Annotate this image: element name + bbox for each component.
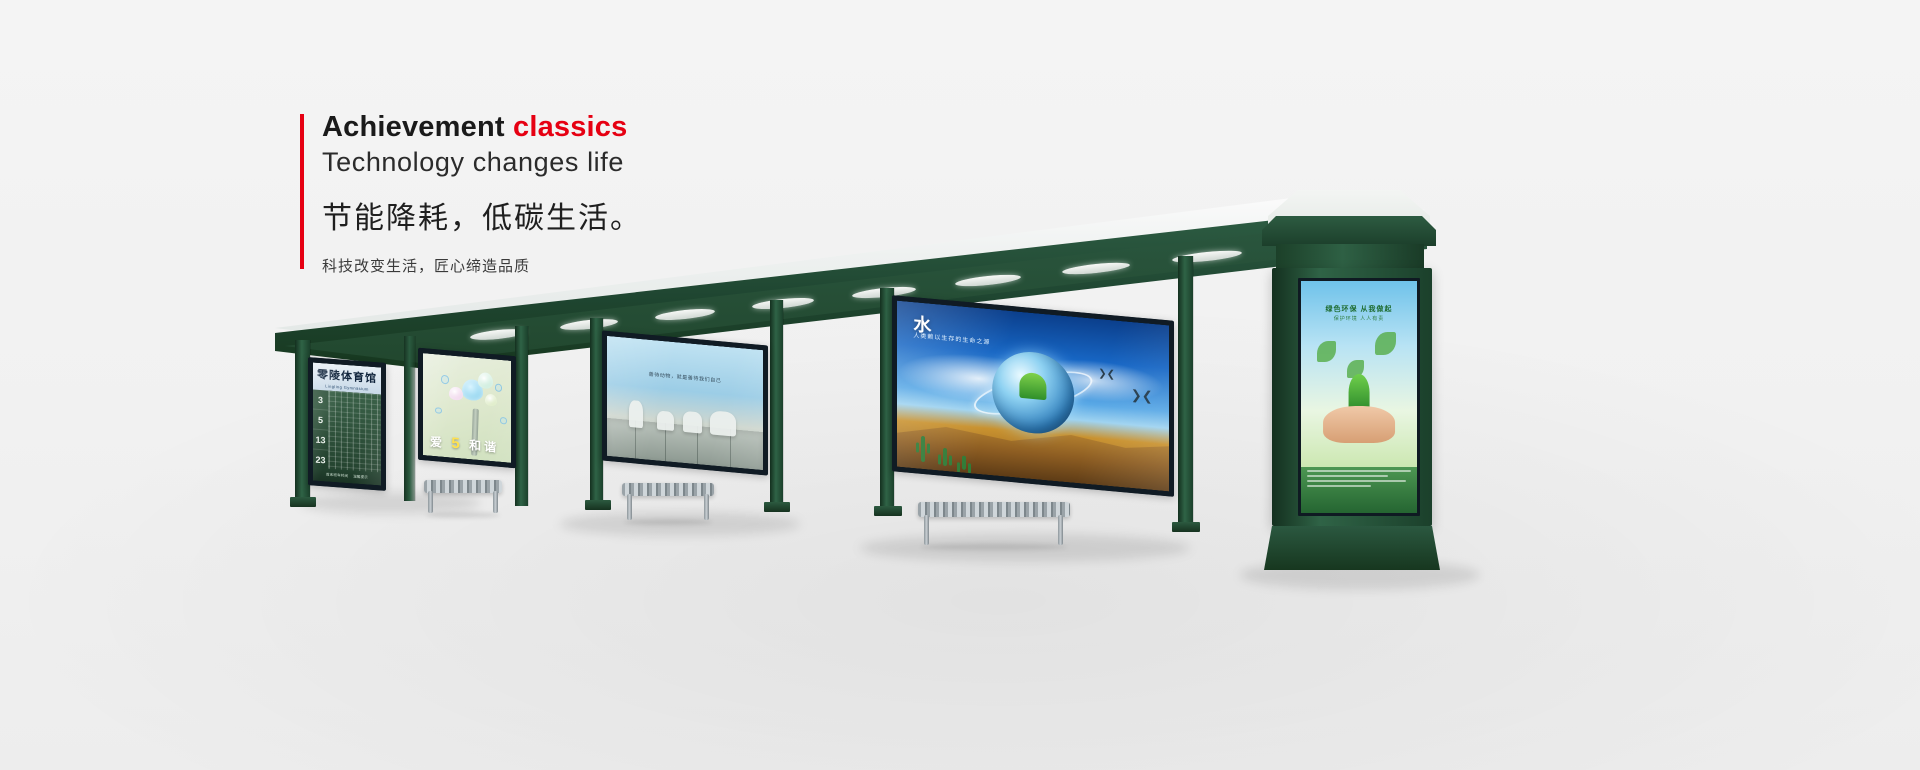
footer-rule xyxy=(1307,480,1406,482)
headline-line-1: Achievement classics xyxy=(322,110,940,144)
support-column xyxy=(770,300,783,505)
cactus-icon xyxy=(943,448,947,466)
poster-green-eco: 绿色环保 从我做起 保护环境 人人有责 xyxy=(1301,281,1417,513)
bench-leg xyxy=(704,494,709,520)
pylon-neck xyxy=(1276,244,1424,268)
bench-shadow xyxy=(921,544,1067,550)
footer-rule xyxy=(1307,485,1371,487)
support-column xyxy=(404,336,415,501)
bench xyxy=(622,483,714,521)
schedule-glass: 零陵体育馆 Lingling Gymnasium 3 5 13 23 首末班车时… xyxy=(313,363,381,486)
bench-shadow xyxy=(624,519,712,525)
bird-icon: ❯❮ xyxy=(1131,388,1153,403)
bench-seat xyxy=(622,483,714,496)
poster-wildlife-caption: 善待动物，就是善待我们自己 xyxy=(649,371,722,385)
headline-line-2: Technology changes life xyxy=(322,146,940,178)
giraffe-silhouette xyxy=(629,400,643,428)
poster-green-title: 绿色环保 从我做起 xyxy=(1326,304,1393,314)
footer-rule xyxy=(1307,470,1411,472)
poster-green-subtitle: 保护环境 人人有责 xyxy=(1334,315,1384,322)
accent-rule xyxy=(300,114,304,269)
schedule-body: 3 5 13 23 xyxy=(313,390,381,475)
schedule-footer-note: 温馨提示 xyxy=(353,474,368,480)
leaf-icon xyxy=(1375,332,1396,355)
ad-light-box-tree[interactable]: 爱 5 和谐 xyxy=(418,348,516,469)
ad-glass: 善待动物，就是善待我们自己 xyxy=(607,336,763,470)
ad-glass: 爱 5 和谐 xyxy=(423,353,511,463)
bubble xyxy=(495,384,502,392)
route-stops-grid xyxy=(328,391,381,475)
bubble xyxy=(500,417,506,424)
schedule-content: 零陵体育馆 Lingling Gymnasium 3 5 13 23 首末班车时… xyxy=(313,363,381,486)
poster-heart-tree: 爱 5 和谐 xyxy=(423,353,511,463)
camel-silhouette xyxy=(683,411,702,433)
column-footing xyxy=(1172,522,1200,532)
bench-leg xyxy=(493,491,498,513)
poster-wildlife: 善待动物，就是善待我们自己 xyxy=(607,336,763,470)
poster-water: 水 人类赖以生存的生命之源 ❯❮ ❯❮ xyxy=(897,301,1169,492)
poster-tree-number: 5 xyxy=(451,435,462,453)
pylon-cap-band xyxy=(1262,216,1436,246)
cactus-icon xyxy=(921,436,925,462)
bench-leg xyxy=(1058,515,1063,545)
totem-pylon[interactable]: LL 绿色环保 从我做起 保护环境 人人有责 xyxy=(1272,268,1432,526)
footer-rule xyxy=(1307,475,1388,477)
totem-screen[interactable]: 绿色环保 从我做起 保护环境 人人有责 xyxy=(1298,278,1420,516)
bench-seat xyxy=(424,480,502,493)
schedule-footer-note: 首末班车时间 xyxy=(326,472,348,479)
route-number: 3 xyxy=(313,390,328,411)
route-number: 5 xyxy=(313,410,328,431)
bench xyxy=(424,480,502,514)
bird-icon: ❯❮ xyxy=(1098,369,1115,381)
elephant-silhouette xyxy=(710,410,737,436)
bench-leg xyxy=(924,515,929,545)
ad-light-box-water[interactable]: 水 人类赖以生存的生命之源 ❯❮ ❯❮ xyxy=(892,295,1174,497)
heart-shape xyxy=(485,393,497,406)
column-footing xyxy=(585,500,611,510)
poster-tree-caption: 爱 5 和谐 xyxy=(430,433,499,456)
cactus-icon xyxy=(962,455,966,469)
bubble xyxy=(435,407,441,414)
column-footing xyxy=(874,506,902,516)
headline-main: Achievement xyxy=(322,111,513,143)
headline-line-3: 节能降耗，低碳生活。 xyxy=(322,193,940,237)
route-number: 13 xyxy=(313,430,328,451)
column-footing xyxy=(764,502,790,512)
leaf-icon xyxy=(1317,341,1336,362)
bench-leg xyxy=(428,491,433,513)
route-number-column: 3 5 13 23 xyxy=(313,390,328,471)
hands-illustration xyxy=(1323,406,1395,443)
bench-leg xyxy=(627,494,632,520)
poster-tree-title: 爱 xyxy=(430,435,445,450)
poster-tree-subtitle: 和谐 xyxy=(469,438,499,455)
bench-shadow xyxy=(426,512,500,518)
support-column xyxy=(1178,256,1193,524)
headline-accent: classics xyxy=(513,111,628,143)
marketing-copy-block: Achievement classics Technology changes … xyxy=(300,110,940,276)
bench xyxy=(918,502,1070,546)
column-footing xyxy=(290,497,316,507)
totem-base xyxy=(1264,526,1440,570)
schedule-light-box[interactable]: 零陵体育馆 Lingling Gymnasium 3 5 13 23 首末班车时… xyxy=(308,357,386,491)
heart-shape xyxy=(449,386,462,400)
ad-light-box-wildlife[interactable]: 善待动物，就是善待我们自己 xyxy=(602,330,768,475)
bench-seat xyxy=(918,502,1070,517)
support-column xyxy=(515,326,528,506)
zebra-silhouette xyxy=(657,410,674,431)
heart-shape xyxy=(478,372,493,389)
bubble xyxy=(441,375,449,384)
ad-glass: 水 人类赖以生存的生命之源 ❯❮ ❯❮ xyxy=(897,301,1169,492)
poster-green-footer xyxy=(1301,467,1417,513)
